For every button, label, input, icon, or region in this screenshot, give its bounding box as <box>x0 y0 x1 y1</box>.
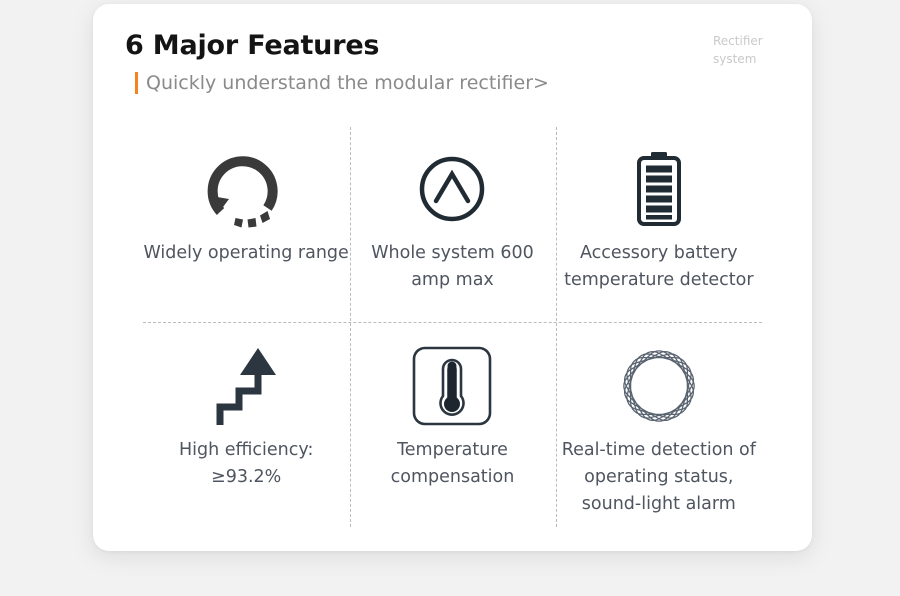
feature-card: 6 Major Features Quickly understand the … <box>93 4 812 551</box>
vertical-divider <box>556 127 557 527</box>
page-title: 6 Major Features <box>125 30 379 61</box>
horizontal-divider <box>143 322 762 323</box>
page-subtitle: Quickly understand the modular rectifier… <box>146 72 549 94</box>
feature-cell-whole-system-amp-max[interactable]: Whole system 600 amp max <box>349 124 555 321</box>
accent-bar-icon <box>135 72 138 94</box>
rotate-range-icon <box>205 146 287 232</box>
subtitle-row: Quickly understand the modular rectifier… <box>135 72 549 94</box>
feature-row: Widely operating range Whole system 600 … <box>143 124 762 321</box>
feature-row: High efficiency: ≥93.2% Temperature com <box>143 321 762 518</box>
circle-chevron-up-icon <box>416 146 488 232</box>
feature-label: High efficiency: ≥93.2% <box>143 437 349 491</box>
vertical-divider <box>350 127 351 527</box>
feature-cell-widely-operating-range[interactable]: Widely operating range <box>143 124 349 321</box>
feature-cell-realtime-detection[interactable]: Real-time detection of operating status,… <box>556 321 762 518</box>
feature-cell-temperature-compensation[interactable]: Temperature compensation <box>349 321 555 518</box>
feature-label: Temperature compensation <box>349 437 555 491</box>
watermark-label: Rectifier system <box>713 32 783 68</box>
feature-label: Real-time detection of operating status,… <box>556 437 762 518</box>
feature-label: Accessory battery temperature detector <box>556 240 762 294</box>
card-header: 6 Major Features Quickly understand the … <box>93 4 812 124</box>
stairs-up-arrow-icon <box>209 343 283 429</box>
feature-label: Widely operating range <box>144 240 349 267</box>
battery-full-icon <box>629 146 689 232</box>
spirograph-squares-icon <box>616 343 702 429</box>
feature-grid: Widely operating range Whole system 600 … <box>143 124 762 529</box>
feature-cell-battery-temperature-detector[interactable]: Accessory battery temperature detector <box>556 124 762 321</box>
feature-cell-high-efficiency[interactable]: High efficiency: ≥93.2% <box>143 321 349 518</box>
thermometer-icon <box>410 343 494 429</box>
feature-label: Whole system 600 amp max <box>349 240 555 294</box>
